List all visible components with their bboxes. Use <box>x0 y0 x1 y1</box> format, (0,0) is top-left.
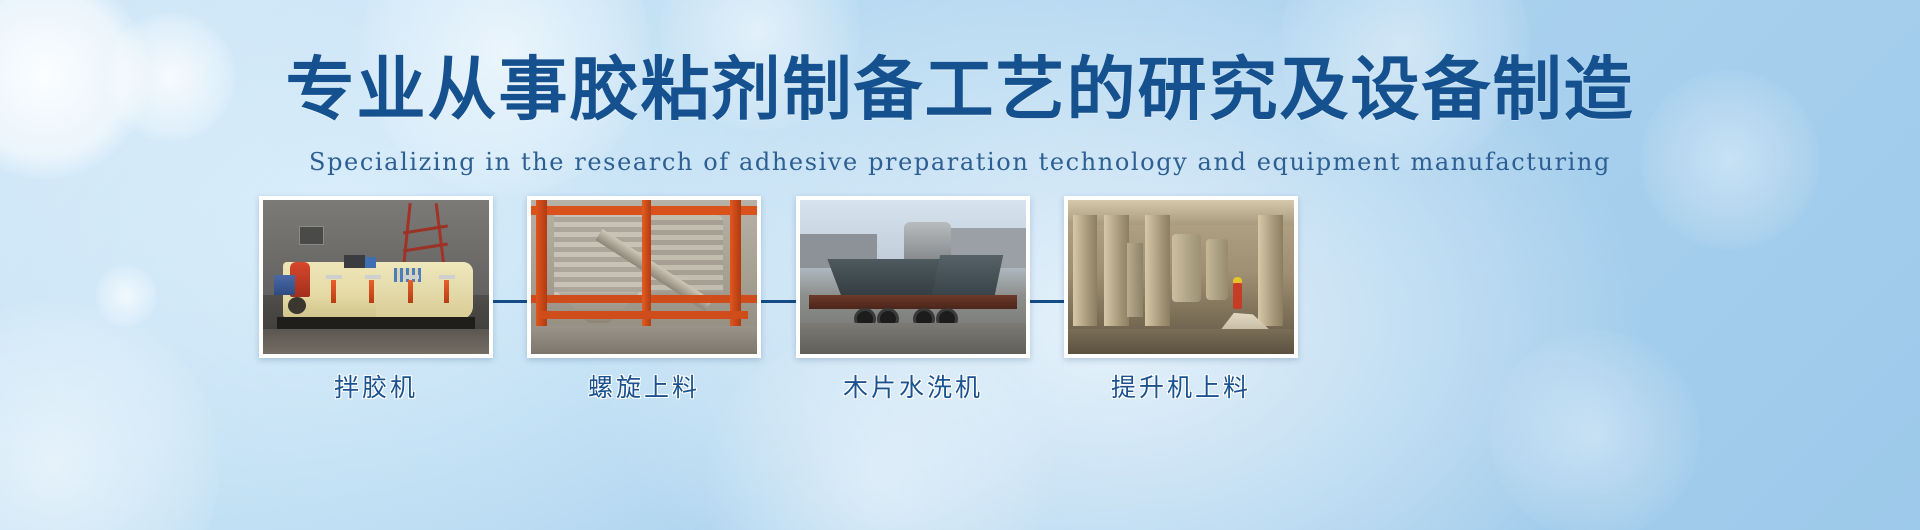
wood-chip-washer-photo <box>800 200 1026 354</box>
elevator-feeding-photo <box>1068 200 1294 354</box>
page-subtitle: Specializing in the research of adhesive… <box>0 148 1920 176</box>
gallery-caption-4: 提升机上料 <box>1039 368 1323 404</box>
photo-frame-1 <box>259 196 493 358</box>
promo-banner: 专业从事胶粘剂制备工艺的研究及设备制造 Specializing in the … <box>0 0 1920 530</box>
screw-conveyor-photo <box>531 200 757 354</box>
gallery-item-1[interactable]: 拌胶机 <box>259 196 493 358</box>
gallery-caption-1: 拌胶机 <box>234 368 518 404</box>
photo-frame-4 <box>1064 196 1298 358</box>
gallery-caption-2: 螺旋上料 <box>502 368 786 404</box>
gallery-item-2[interactable]: 螺旋上料 <box>527 196 761 358</box>
product-gallery: 拌胶机 螺旋上料 <box>0 196 1920 426</box>
gallery-item-3[interactable]: 木片水洗机 <box>796 196 1030 358</box>
photo-frame-3 <box>796 196 1030 358</box>
photo-frame-2 <box>527 196 761 358</box>
subtitle-container: Specializing in the research of adhesive… <box>0 148 1920 176</box>
headline-container: 专业从事胶粘剂制备工艺的研究及设备制造 <box>0 52 1920 129</box>
page-title: 专业从事胶粘剂制备工艺的研究及设备制造 <box>0 52 1920 129</box>
gallery-item-4[interactable]: 提升机上料 <box>1064 196 1298 358</box>
glue-mixer-photo <box>263 200 489 354</box>
gallery-caption-3: 木片水洗机 <box>771 368 1055 404</box>
